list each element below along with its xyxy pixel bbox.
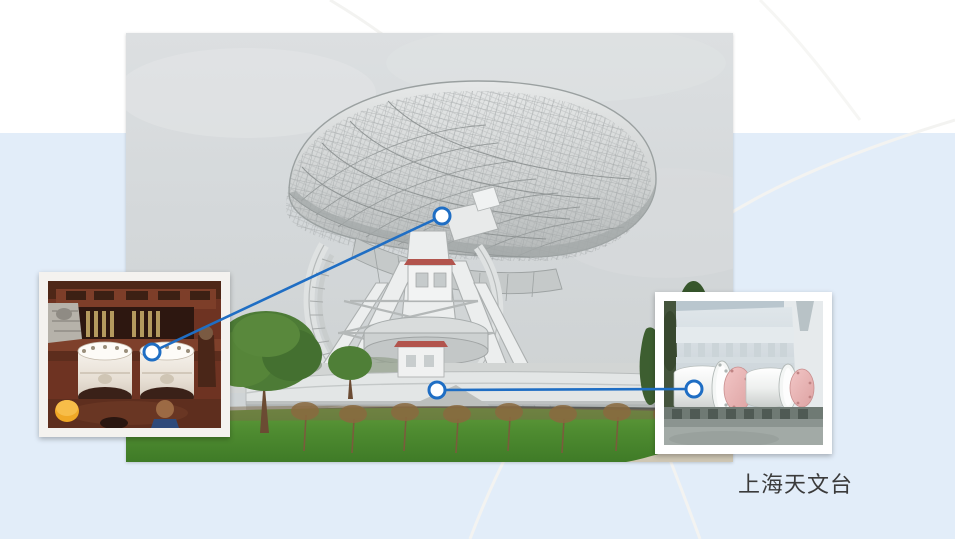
inset-right-image	[664, 301, 823, 445]
bearing-assembly-rusty-photo	[39, 272, 230, 437]
bearing-assembly-painted-photo	[655, 292, 832, 454]
slide-canvas: 上海天文台	[0, 0, 955, 539]
inset-left-image	[48, 281, 221, 428]
photo-caption: 上海天文台	[738, 471, 853, 499]
